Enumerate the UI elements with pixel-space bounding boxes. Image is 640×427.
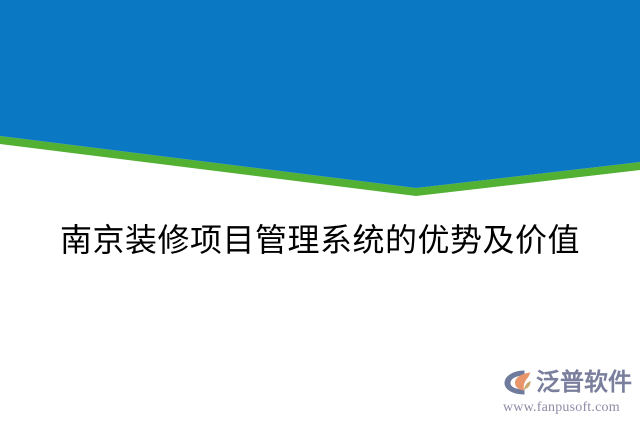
slide-title-text: 南京装修项目管理系统的优势及价值 <box>60 218 580 262</box>
brand-logo[interactable]: 泛普软件 www.fanpusoft.com <box>503 366 637 418</box>
blue-chevron-banner <box>0 0 640 200</box>
fanpu-arc-logo-icon <box>503 369 533 396</box>
presentation-slide: 南京装修项目管理系统的优势及价值 泛普软件 www.fanpusoft.com <box>0 0 640 427</box>
brand-website-url: www.fanpusoft.com <box>503 399 637 416</box>
brand-wordmark: 泛普软件 <box>536 369 632 396</box>
slide-title: 南京装修项目管理系统的优势及价值 <box>0 218 640 262</box>
blue-banner-fill <box>0 0 640 188</box>
green-accent-stripe <box>0 136 640 196</box>
brand-logo-row: 泛普软件 <box>503 366 637 398</box>
